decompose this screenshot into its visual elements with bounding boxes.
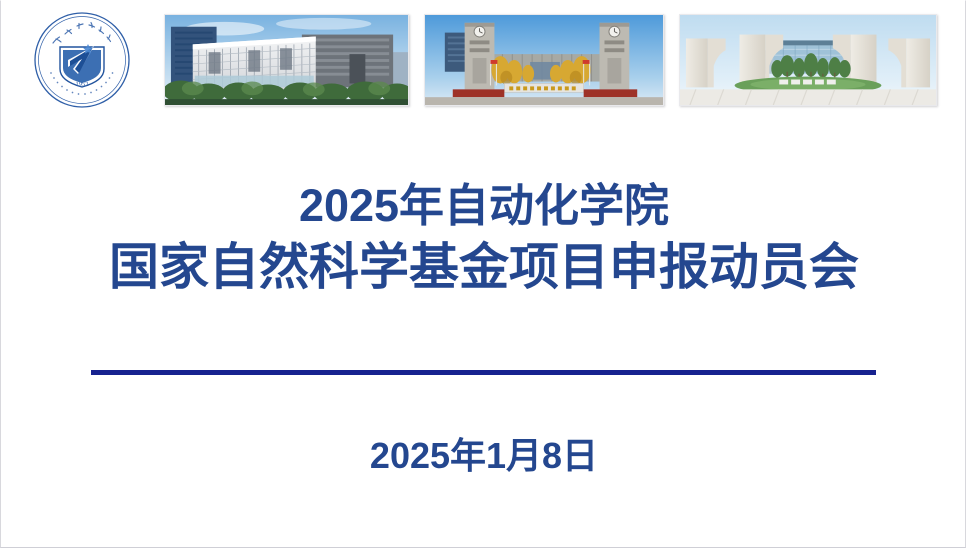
- campus-building-photo-icon: [164, 14, 409, 106]
- slide-date-block: 2025年1月8日: [1, 434, 966, 477]
- title-line-1: 2025年自动化学院: [1, 179, 966, 232]
- title-line-2: 国家自然科学基金项目申报动员会: [1, 238, 966, 297]
- campus-plaza-photo-icon: [679, 14, 937, 106]
- title-divider-rule: [91, 370, 876, 375]
- beihang-university-seal-icon: 1952: [32, 10, 132, 110]
- slide-title: 2025年自动化学院 国家自然科学基金项目申报动员会: [1, 179, 966, 297]
- slide-header-band: 1952: [1, 1, 966, 121]
- presentation-slide: 1952: [0, 0, 966, 548]
- svg-text:1952: 1952: [76, 81, 89, 88]
- campus-main-gate-photo-icon: [424, 14, 664, 106]
- slide-date: 2025年1月8日: [1, 434, 966, 477]
